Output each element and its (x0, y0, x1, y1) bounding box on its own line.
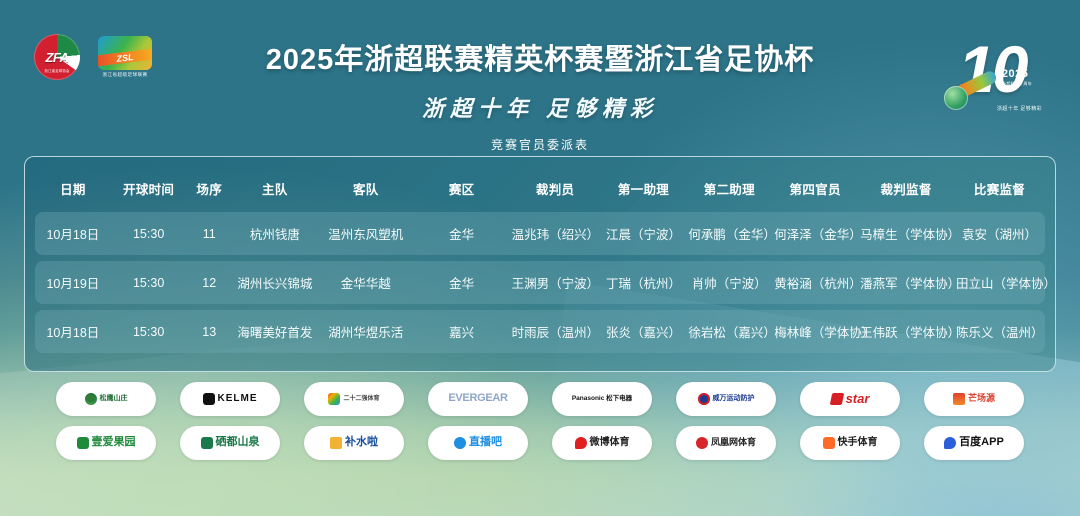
sponsor-label: 威万运动防护 (713, 395, 755, 402)
anniversary-caption: 浙超十年 足够精彩 (997, 105, 1042, 112)
sponsor-label: 补水啦 (345, 437, 378, 449)
cell-fourth-official: 梅林峰（学体协） (772, 310, 858, 353)
cell-region: 金华 (414, 261, 510, 304)
sponsor-label: KELME (218, 394, 258, 405)
cell-match-supervisor: 袁安（湖州） (954, 212, 1045, 255)
cell-match-no: 13 (187, 310, 232, 353)
page-title: 2025年浙超联赛精英杯赛暨浙江省足协杯 (0, 36, 1080, 78)
poster-header: 浙江省足球协会 浙江省超级足球联赛 2025年浙超联赛精英杯赛暨浙江省足协杯 浙… (0, 0, 1080, 150)
sponsor-logo-yiaiguoyuan: 壹爱果园 (56, 426, 156, 460)
cell-away-team: 温州东风塑机 (318, 212, 414, 255)
cell-referee-supervisor: 潘燕军（学体协） (858, 261, 954, 304)
cell-referee-supervisor: 马樟生（学体协） (858, 212, 954, 255)
column-header-referee-supervisor: 裁判监督 (858, 169, 954, 206)
fruit-icon (77, 437, 89, 449)
table-row: 10月19日 15:30 12 湖州长兴锦城 金华华越 金华 王渊男（宁波） 丁… (35, 261, 1045, 304)
cell-referee: 温兆玮（绍兴） (510, 212, 601, 255)
column-header-match-supervisor: 比赛监督 (954, 169, 1045, 206)
sponsor-logo-songying: 松鹰山庄 (56, 382, 156, 416)
twenty-two-icon (328, 393, 340, 405)
page-subtitle: 浙超十年 足够精彩 (0, 91, 1080, 123)
sponsor-logo-evergear: EVERGEAR (428, 382, 528, 416)
cell-assistant-2: 徐岩松（嘉兴） (686, 310, 772, 353)
sponsor-logo-weiwan: 威万运动防护 (676, 382, 776, 416)
paw-icon (203, 393, 215, 405)
anniversary-year: 2025 浙超联赛十周年 (1002, 68, 1032, 87)
table-header-row: 日期 开球时间 场序 主队 客队 赛区 裁判员 第一助理 第二助理 第四官员 裁… (35, 169, 1045, 206)
sponsor-logo-panasonic: Panasonic 松下电器 (552, 382, 652, 416)
spring-icon (201, 437, 213, 449)
weibo-icon (575, 437, 587, 449)
officials-table-container: 日期 开球时间 场序 主队 客队 赛区 裁判员 第一助理 第二助理 第四官员 裁… (24, 156, 1056, 372)
sponsor-logo-baidu-app: 百度APP (924, 426, 1024, 460)
table-row: 10月18日 15:30 13 海曙美好首发 湖州华煜乐活 嘉兴 时雨辰（温州）… (35, 310, 1045, 353)
title-block: 2025年浙超联赛精英杯赛暨浙江省足协杯 浙超十年 足够精彩 竞赛官员委派表 (0, 0, 1080, 153)
column-header-assistant-2: 第二助理 (686, 169, 772, 206)
sponsor-row-2: 壹爱果园 硒都山泉 补水啦 直播吧 微博体育 凤凰网体育 (0, 426, 1080, 460)
sponsor-label: Panasonic 松下电器 (572, 396, 632, 403)
sponsor-label: 凤凰网体育 (711, 438, 756, 447)
cell-referee: 王渊男（宁波） (510, 261, 601, 304)
cell-fourth-official: 何泽泽（金华） (772, 212, 858, 255)
star-mark-icon (829, 393, 844, 405)
column-header-date: 日期 (35, 169, 111, 206)
cell-kickoff: 15:30 (111, 261, 187, 304)
cell-home-team: 海曙美好首发 (232, 310, 318, 353)
cell-referee-supervisor: 王伟跃（学体协） (858, 310, 954, 353)
anniversary-year-text: 2025 (1002, 68, 1028, 80)
sponsor-logo-bushuila: 补水啦 (304, 426, 404, 460)
column-header-assistant-1: 第一助理 (601, 169, 687, 206)
baidu-icon (944, 437, 956, 449)
sponsor-logo-kuaishou-sports: 快手体育 (800, 426, 900, 460)
cell-fourth-official: 黄裕涵（杭州） (772, 261, 858, 304)
column-header-fourth-official: 第四官员 (772, 169, 858, 206)
column-header-referee: 裁判员 (510, 169, 601, 206)
officials-table: 日期 开球时间 场序 主队 客队 赛区 裁判员 第一助理 第二助理 第四官员 裁… (35, 163, 1045, 359)
cell-assistant-1: 丁瑞（杭州） (601, 261, 687, 304)
table-caption: 竞赛官员委派表 (0, 136, 1080, 153)
kuaishou-icon (823, 437, 835, 449)
cell-region: 嘉兴 (414, 310, 510, 353)
mango-icon (953, 393, 965, 405)
anniversary-logo: 10 2025 浙超联赛十周年 浙超十年 足够精彩 (942, 24, 1054, 128)
cell-away-team: 湖州华煜乐活 (318, 310, 414, 353)
water-bottle-icon (330, 437, 342, 449)
sponsor-logo-xidushanquan: 硒都山泉 (180, 426, 280, 460)
sponsor-label: 二十二强体育 (343, 396, 379, 402)
cell-match-no: 11 (187, 212, 232, 255)
cell-match-supervisor: 田立山（学体协） (954, 261, 1045, 304)
cell-assistant-2: 何承鹏（金华） (686, 212, 772, 255)
table-row: 10月18日 15:30 11 杭州钱唐 温州东风塑机 金华 温兆玮（绍兴） 江… (35, 212, 1045, 255)
sponsor-label: 壹爱果园 (92, 437, 136, 449)
cell-assistant-1: 张炎（嘉兴） (601, 310, 687, 353)
cell-date: 10月18日 (35, 212, 111, 255)
table-body: 10月18日 15:30 11 杭州钱唐 温州东风塑机 金华 温兆玮（绍兴） 江… (35, 212, 1045, 353)
cell-home-team: 杭州钱唐 (232, 212, 318, 255)
eight-icon (454, 437, 466, 449)
cell-assistant-2: 肖帅（宁波） (686, 261, 772, 304)
cell-date: 10月19日 (35, 261, 111, 304)
sponsor-logo-kelme: KELME (180, 382, 280, 416)
sponsor-label: 微博体育 (590, 438, 630, 449)
sponsor-label: 芒场源 (968, 394, 995, 403)
cell-date: 10月18日 (35, 310, 111, 353)
cell-referee: 时雨辰（温州） (510, 310, 601, 353)
column-header-match-no: 场序 (187, 169, 232, 206)
sponsor-label: 硒都山泉 (216, 437, 260, 449)
w-mark-icon (698, 393, 710, 405)
sponsor-label: 松鹰山庄 (100, 395, 128, 402)
sponsor-logo-zhibo8: 直播吧 (428, 426, 528, 460)
cell-home-team: 湖州长兴锦城 (232, 261, 318, 304)
sponsor-logo-22sports: 二十二强体育 (304, 382, 404, 416)
sponsor-label: 快手体育 (838, 438, 878, 449)
column-header-region: 赛区 (414, 169, 510, 206)
sponsor-label: 直播吧 (469, 437, 502, 449)
cell-match-supervisor: 陈乐义（温州） (954, 310, 1045, 353)
cell-away-team: 金华华越 (318, 261, 414, 304)
column-header-kickoff: 开球时间 (111, 169, 187, 206)
anniversary-year-subtext: 浙超联赛十周年 (1002, 81, 1032, 87)
cell-region: 金华 (414, 212, 510, 255)
sponsor-label: star (846, 392, 870, 406)
sponsor-logo-weibo-sports: 微博体育 (552, 426, 652, 460)
sponsor-label: EVERGEAR (448, 393, 507, 405)
sponsor-logo-star: star (800, 382, 900, 416)
column-header-away-team: 客队 (318, 169, 414, 206)
sponsor-logo-mangchangyuan: 芒场源 (924, 382, 1024, 416)
cell-kickoff: 15:30 (111, 212, 187, 255)
sponsor-row-1: 松鹰山庄 KELME 二十二强体育 EVERGEAR Panasonic 松下电… (0, 382, 1080, 416)
tree-icon (85, 393, 97, 405)
football-icon (944, 86, 968, 110)
sponsor-bar: 松鹰山庄 KELME 二十二强体育 EVERGEAR Panasonic 松下电… (0, 382, 1080, 470)
tournament-poster: 浙江省足球协会 浙江省超级足球联赛 2025年浙超联赛精英杯赛暨浙江省足协杯 浙… (0, 0, 1080, 516)
phoenix-icon (696, 437, 708, 449)
cell-assistant-1: 江晨（宁波） (601, 212, 687, 255)
sponsor-label: 百度APP (959, 437, 1004, 449)
column-header-home-team: 主队 (232, 169, 318, 206)
cell-match-no: 12 (187, 261, 232, 304)
cell-kickoff: 15:30 (111, 310, 187, 353)
sponsor-logo-ifeng-sports: 凤凰网体育 (676, 426, 776, 460)
